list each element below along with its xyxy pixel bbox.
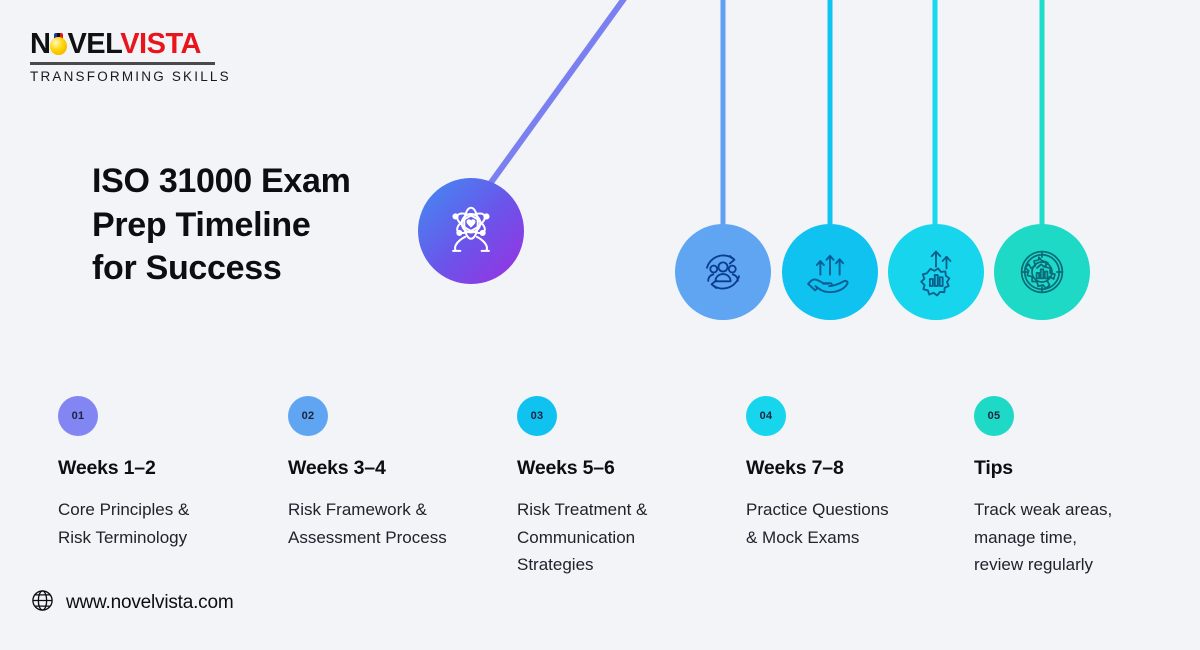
lightbulb-icon	[49, 33, 68, 57]
hand-growth-arrows-icon	[802, 244, 858, 300]
team-cycle-icon	[696, 245, 750, 299]
step-item-02: 02 Weeks 3–4 Risk Framework & Assessment…	[288, 396, 503, 551]
step-number-01: 01	[72, 410, 85, 422]
step-number-05: 05	[988, 410, 1001, 422]
step-title-02: Weeks 3–4	[288, 457, 503, 480]
ball-2-team	[675, 224, 771, 320]
page-title: ISO 31000 Exam Prep Timeline for Success	[92, 160, 452, 291]
page-title-line-2: Prep Timeline	[92, 204, 452, 248]
step-title-01: Weeks 1–2	[58, 457, 268, 480]
step-item-05: 05 Tips Track weak areas, manage time, r…	[974, 396, 1174, 579]
logo-novel-rest: VEL	[67, 28, 120, 60]
step-badge-01: 01	[58, 396, 98, 436]
logo-vista: VISTA	[120, 28, 201, 60]
step-desc-05: Track weak areas, manage time, review re…	[974, 496, 1174, 579]
step-number-02: 02	[302, 410, 315, 422]
step-title-04: Weeks 7–8	[746, 457, 961, 480]
step-badge-04: 04	[746, 396, 786, 436]
step-badge-05: 05	[974, 396, 1014, 436]
cradle-string-1	[474, 0, 626, 206]
step-desc-02: Risk Framework & Assessment Process	[288, 496, 503, 551]
step-number-04: 04	[760, 410, 773, 422]
step-desc-04: Practice Questions & Mock Exams	[746, 496, 961, 551]
footer: www.novelvista.com	[30, 588, 233, 618]
ball-1-atom-hands	[418, 178, 524, 284]
logo-divider	[30, 62, 215, 65]
step-desc-03: Risk Treatment & Communication Strategie…	[517, 496, 732, 579]
brand-logo: NVELVISTA TRANSFORMING SKILLS	[30, 30, 215, 84]
step-number-03: 03	[531, 410, 544, 422]
circular-gear-chart-icon	[1013, 243, 1071, 301]
gear-bar-chart-arrows-icon	[908, 244, 964, 300]
step-desc-01: Core Principles & Risk Terminology	[58, 496, 268, 551]
step-title-03: Weeks 5–6	[517, 457, 732, 480]
globe-icon	[30, 588, 55, 618]
step-badge-03: 03	[517, 396, 557, 436]
page-title-line-3: for Success	[92, 247, 452, 291]
step-item-03: 03 Weeks 5–6 Risk Treatment & Communicat…	[517, 396, 732, 579]
step-badge-02: 02	[288, 396, 328, 436]
ball-4-gear-chart	[888, 224, 984, 320]
logo-novel-n: N	[30, 28, 50, 60]
step-item-01: 01 Weeks 1–2 Core Principles & Risk Term…	[58, 396, 268, 551]
ball-3-growth-hand	[782, 224, 878, 320]
step-title-05: Tips	[974, 457, 1174, 480]
page-title-line-1: ISO 31000 Exam	[92, 160, 452, 204]
timeline-steps: 01 Weeks 1–2 Core Principles & Risk Term…	[0, 396, 1200, 606]
atom-in-hands-icon	[440, 200, 502, 262]
logo-wordmark: NVELVISTA	[30, 30, 215, 59]
step-item-04: 04 Weeks 7–8 Practice Questions & Mock E…	[746, 396, 961, 551]
ball-5-gear-circle	[994, 224, 1090, 320]
logo-tagline: TRANSFORMING SKILLS	[30, 69, 215, 84]
footer-website-url[interactable]: www.novelvista.com	[66, 592, 233, 614]
